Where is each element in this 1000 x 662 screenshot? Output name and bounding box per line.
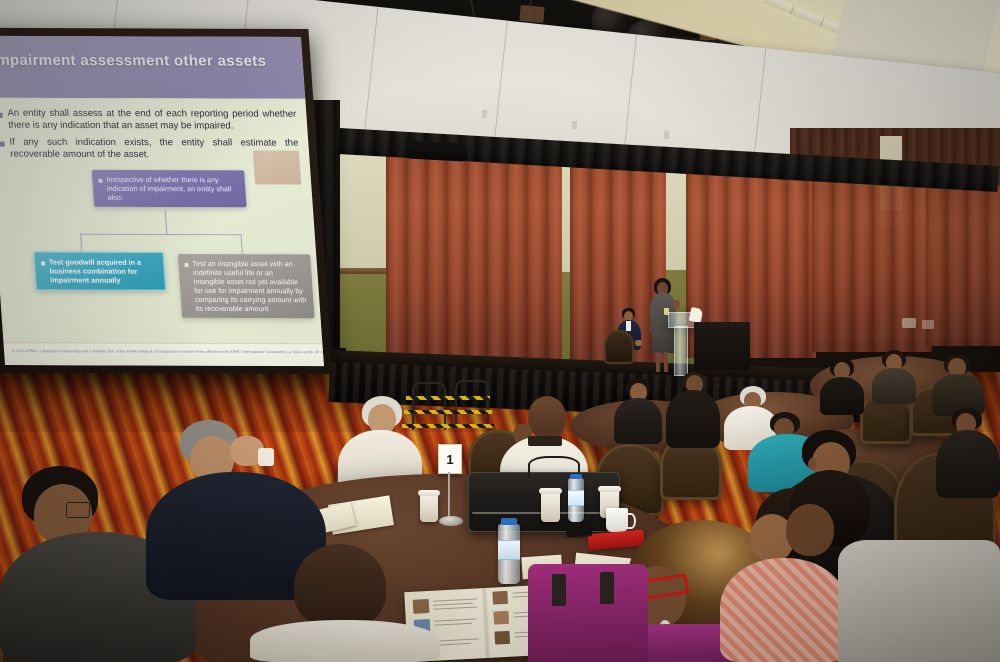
bag-buckle [600, 572, 614, 604]
audience-collar [528, 436, 562, 446]
bottle-cap [570, 474, 582, 479]
presenter-skirt [652, 331, 674, 353]
stage-curtain-main [386, 146, 562, 372]
coffee-cup [541, 492, 560, 522]
slide-callout-purple: Irrespective of whether there is any ind… [92, 170, 247, 207]
presenter-leg [656, 352, 660, 372]
slide-connector-line [80, 234, 82, 254]
audience-head-bald [528, 396, 566, 438]
audience-shirt-cuff [258, 448, 274, 466]
wall-sconce [922, 320, 934, 329]
audience-ear [808, 458, 817, 470]
table-number-stand: 1 [438, 444, 464, 528]
booklet-headshot [493, 611, 509, 625]
slide-connector-line [241, 234, 244, 256]
slide-callout-grey: Test an intangible asset with an indefin… [178, 254, 315, 318]
bullet-marker-icon [184, 263, 188, 267]
slide-bullet: An entity shall assess at the end of eac… [0, 108, 298, 132]
slide-callout-purple-text: Irrespective of whether there is any ind… [106, 175, 240, 202]
bullet-marker-icon [98, 179, 102, 183]
slide-surface: Impairment assessment other assets An en… [0, 36, 324, 366]
audience-member [870, 350, 918, 406]
audience-torso [614, 398, 662, 444]
downlight-fixture [572, 121, 577, 129]
stage-curtain-main [926, 186, 1000, 346]
audience-head [786, 504, 834, 556]
stage-chair [604, 330, 634, 364]
audience-shirt [250, 620, 440, 662]
bottle-label [568, 490, 584, 506]
slide-decor-image [253, 150, 301, 184]
coffee-cup-lid [598, 486, 621, 492]
audience-torso [936, 430, 1000, 498]
magenta-bag [528, 564, 648, 662]
ceiling-speaker [452, 148, 468, 160]
stage-stair-handrail [455, 380, 489, 428]
audience-member-front-far-right [772, 470, 882, 630]
panelist-shirt [626, 321, 631, 331]
audience-member [612, 378, 662, 444]
bullet-marker-icon [0, 113, 3, 118]
slide-bullet-text: An entity shall assess at the end of eac… [7, 108, 297, 132]
slide-title: Impairment assessment other assets [0, 52, 293, 70]
downlight-fixture [664, 131, 669, 139]
slide-connector-line [165, 210, 168, 234]
audience-member [818, 358, 866, 416]
slide-callout-teal-text: Test goodwill acquired in a business com… [49, 257, 159, 284]
ceiling-rigging-block [519, 5, 544, 23]
bullet-marker-icon [41, 261, 45, 265]
eyeglasses [298, 584, 316, 604]
slide-callout-grey-text: Test an intangible asset with an indefin… [192, 259, 308, 313]
audience-torso [666, 390, 720, 448]
audience-member [930, 354, 984, 416]
coffee-cup [420, 494, 438, 522]
slide-footer-text: © 2015 KPMG, a Barbados Partnership and … [12, 349, 324, 354]
presenter-leg [664, 352, 668, 372]
booklet-headshot [492, 591, 508, 605]
audience-member [666, 372, 720, 448]
booklet-headshot [494, 631, 510, 645]
coffee-cup-lid [418, 490, 440, 496]
downlight-fixture [482, 110, 487, 118]
presenter-gesture-hand [673, 300, 680, 309]
bullet-marker-icon [0, 142, 5, 147]
eyeglasses [66, 502, 90, 518]
audience-torso [872, 368, 916, 404]
slide-connector-line [80, 234, 240, 236]
coffee-cup-lid [539, 488, 562, 494]
audience-torso [820, 377, 864, 415]
slide-footer: © 2015 KPMG, a Barbados Partnership and … [3, 342, 323, 366]
table-number-card: 1 [438, 444, 462, 474]
bottle-cap [501, 518, 517, 525]
slide-callout-teal: Test goodwill acquired in a business com… [33, 251, 166, 290]
audience-member-front-center [250, 544, 440, 662]
panelist-hand [635, 340, 642, 346]
projection-screen: Impairment assessment other assets An en… [0, 28, 333, 374]
audience-member [936, 408, 1000, 498]
conference-room-photo: Impairment assessment other assets An en… [0, 0, 1000, 662]
table-number-base [439, 516, 463, 526]
stage-head-table [694, 322, 750, 370]
bag-buckle [552, 574, 566, 606]
bottle-label [498, 540, 520, 560]
wall-sconce [902, 318, 916, 328]
slide-body: An entity shall assess at the end of eac… [0, 98, 324, 366]
lectern-column [674, 326, 688, 376]
table-number-pole [448, 472, 450, 520]
